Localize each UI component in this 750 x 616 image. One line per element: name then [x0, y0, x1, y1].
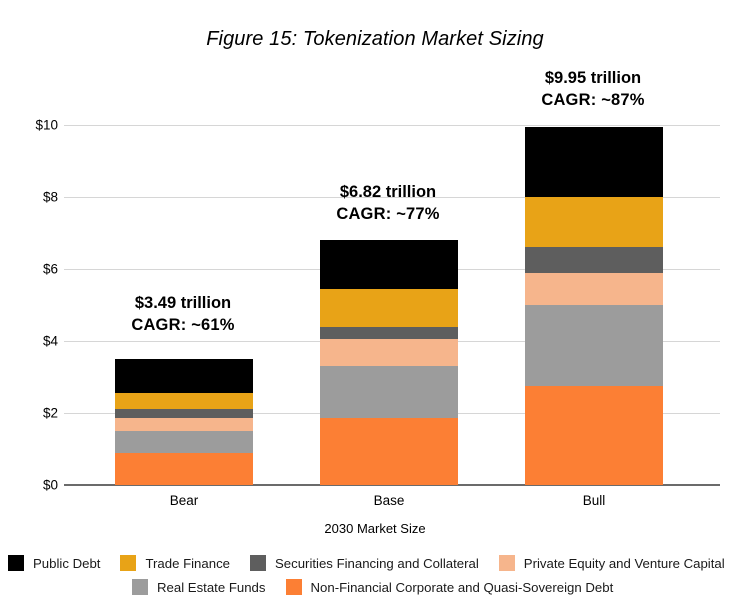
legend-swatch-icon: [286, 579, 302, 595]
legend-swatch-icon: [250, 555, 266, 571]
legend-row-2: Real Estate FundsNon-Financial Corporate…: [8, 576, 750, 598]
bar-bear[interactable]: [115, 359, 253, 485]
bar-segment[interactable]: [320, 327, 458, 340]
y-tick-label: $4: [2, 334, 58, 349]
y-tick-label: $2: [2, 406, 58, 421]
legend-item[interactable]: Real Estate Funds: [132, 579, 266, 595]
bar-segment[interactable]: [115, 453, 253, 485]
x-axis-title: 2030 Market Size: [0, 521, 750, 536]
legend-label: Real Estate Funds: [157, 580, 266, 595]
annotation-total: $6.82 trillion: [308, 182, 468, 204]
y-tick-label: $6: [2, 262, 58, 277]
legend-swatch-icon: [499, 555, 515, 571]
bar-segment[interactable]: [320, 418, 458, 485]
bar-segment[interactable]: [525, 305, 663, 386]
x-tick-label-bear: Bear: [104, 493, 264, 508]
bar-segment[interactable]: [320, 366, 458, 418]
annotation-bull: $9.95 trillion CAGR: ~87%: [513, 68, 673, 112]
legend-item[interactable]: Securities Financing and Collateral: [250, 555, 479, 571]
annotation-cagr: CAGR: ~87%: [513, 90, 673, 112]
page-title: Figure 15: Tokenization Market Sizing: [0, 28, 750, 51]
bar-segment[interactable]: [115, 359, 253, 393]
bar-segment[interactable]: [115, 431, 253, 453]
bar-bull[interactable]: [525, 127, 663, 485]
legend-swatch-icon: [132, 579, 148, 595]
bar-segment[interactable]: [115, 418, 253, 431]
bar-segment[interactable]: [525, 127, 663, 197]
y-tick-label: $10: [2, 118, 58, 133]
annotation-base: $6.82 trillion CAGR: ~77%: [308, 182, 468, 226]
bar-segment[interactable]: [525, 386, 663, 485]
legend-item[interactable]: Private Equity and Venture Capital: [499, 555, 725, 571]
annotation-total: $9.95 trillion: [513, 68, 673, 90]
bar-segment[interactable]: [115, 393, 253, 409]
legend-label: Non-Financial Corporate and Quasi-Sovere…: [311, 580, 614, 595]
legend-label: Trade Finance: [145, 556, 230, 571]
bar-base[interactable]: [320, 240, 458, 485]
y-tick-label: $8: [2, 190, 58, 205]
bar-segment[interactable]: [525, 273, 663, 305]
annotation-bear: $3.49 trillion CAGR: ~61%: [103, 293, 263, 337]
legend: Public DebtTrade FinanceSecurities Finan…: [8, 552, 744, 600]
legend-item[interactable]: Public Debt: [8, 555, 100, 571]
bar-segment[interactable]: [320, 339, 458, 366]
x-tick-label-bull: Bull: [514, 493, 674, 508]
legend-item[interactable]: Non-Financial Corporate and Quasi-Sovere…: [286, 579, 614, 595]
legend-label: Securities Financing and Collateral: [275, 556, 479, 571]
annotation-cagr: CAGR: ~61%: [103, 315, 263, 337]
bar-segment[interactable]: [525, 197, 663, 247]
annotation-total: $3.49 trillion: [103, 293, 263, 315]
legend-swatch-icon: [120, 555, 136, 571]
annotation-cagr: CAGR: ~77%: [308, 204, 468, 226]
x-tick-label-base: Base: [309, 493, 469, 508]
legend-row-1: Public DebtTrade FinanceSecurities Finan…: [8, 552, 744, 574]
bar-segment[interactable]: [115, 409, 253, 418]
legend-label: Public Debt: [33, 556, 100, 571]
y-tick-label: $0: [2, 478, 58, 493]
legend-swatch-icon: [8, 555, 24, 571]
gridline: [64, 125, 720, 126]
legend-item[interactable]: Trade Finance: [120, 555, 230, 571]
y-axis: $10 $8 $6 $4 $2 $0: [0, 125, 58, 485]
legend-label: Private Equity and Venture Capital: [524, 556, 725, 571]
bar-segment[interactable]: [320, 240, 458, 289]
bar-segment[interactable]: [525, 247, 663, 272]
bar-segment[interactable]: [320, 289, 458, 327]
